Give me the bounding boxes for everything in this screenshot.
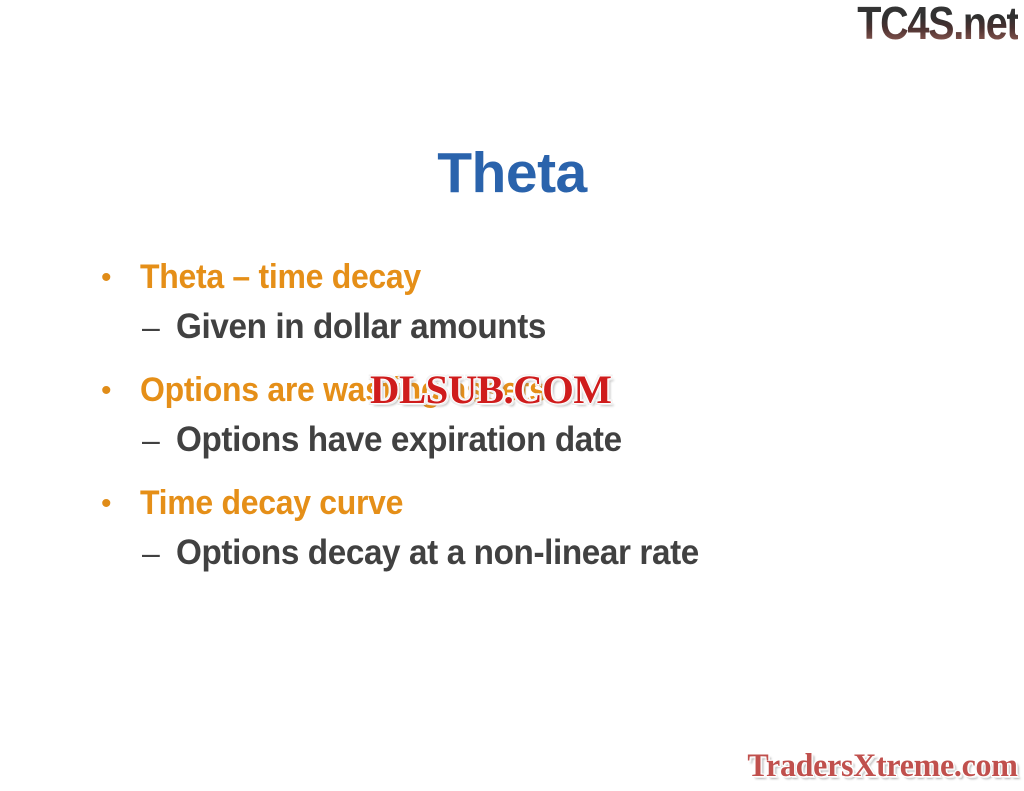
tradersxtreme-logo: TradersXtreme.com — [748, 749, 1018, 783]
bullet-marker-dot: • — [96, 368, 140, 413]
sub-bullet-item: – Given in dollar amounts — [96, 303, 916, 351]
sub-bullet-item: – Options decay at a non-linear rate — [96, 529, 916, 577]
sub-bullet-marker-dash: – — [142, 416, 176, 464]
sub-bullet-marker-dash: – — [142, 529, 176, 577]
tc4s-logo: TC4S.net — [857, 0, 1018, 48]
presentation-slide: TC4S.net Theta • Theta – time decay – Gi… — [0, 0, 1024, 791]
dlsub-watermark: DLSUB.COM — [370, 369, 611, 411]
sub-bullet-marker-dash: – — [142, 303, 176, 351]
sub-bullet-item: – Options have expiration date — [96, 416, 916, 464]
watermark-text: DLSUB.COM — [370, 369, 611, 411]
bullet-text: Time decay curve — [140, 481, 403, 526]
bullet-marker-dot: • — [96, 481, 140, 526]
bullet-item: • Theta – time decay — [96, 255, 916, 300]
bullet-list: • Theta – time decay – Given in dollar a… — [96, 255, 916, 584]
sub-bullet-text: Options decay at a non-linear rate — [176, 529, 699, 577]
bullet-marker-dot: • — [96, 255, 140, 300]
list-spacer — [96, 471, 916, 481]
sub-bullet-text: Options have expiration date — [176, 416, 622, 464]
bullet-item: • Time decay curve — [96, 481, 916, 526]
slide-title: Theta — [0, 141, 1024, 205]
sub-bullet-text: Given in dollar amounts — [176, 303, 546, 351]
bullet-text: Theta – time decay — [140, 255, 421, 300]
